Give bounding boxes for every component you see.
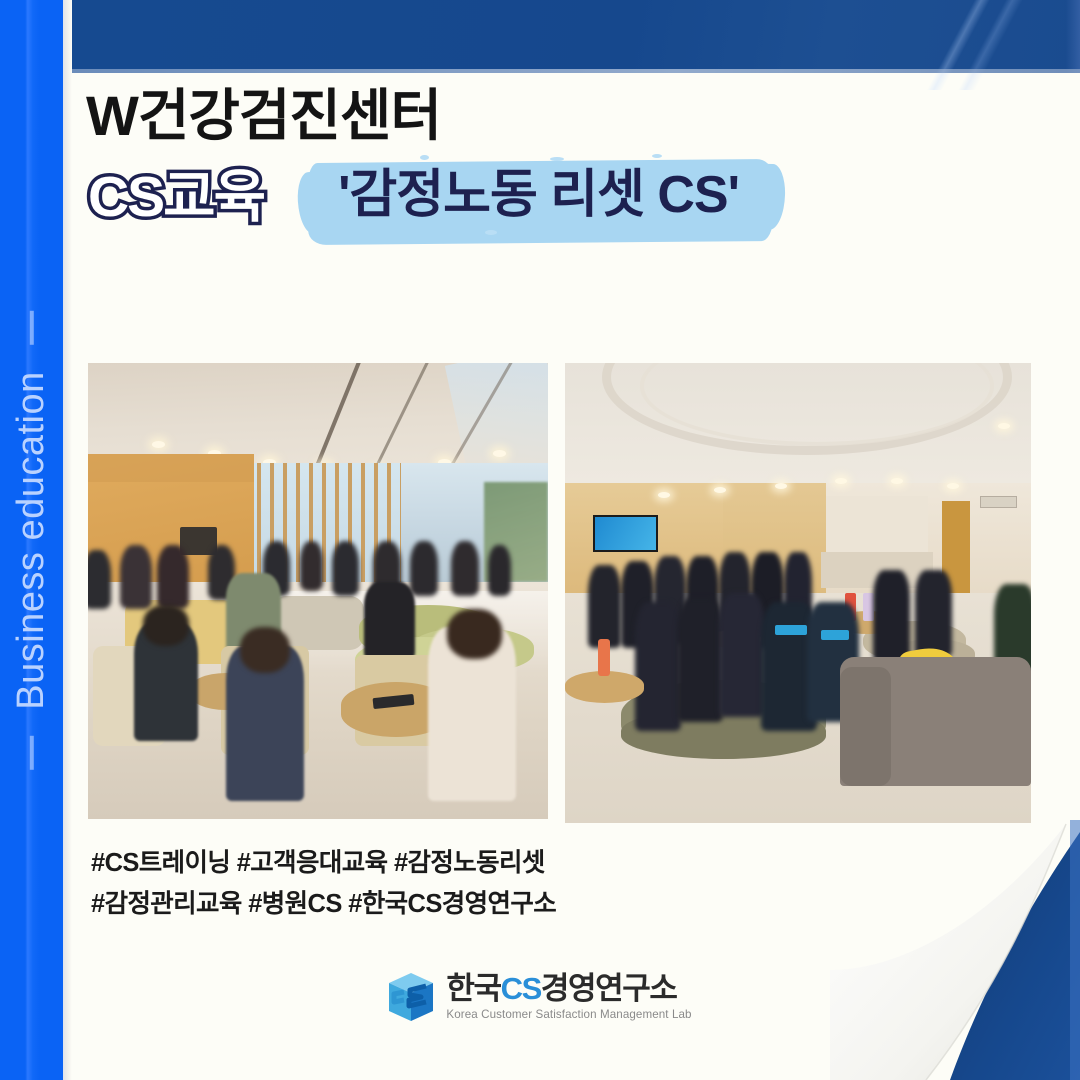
subject-badge: CS교육	[88, 169, 264, 226]
lounge-seminar-photo	[88, 363, 548, 819]
photo-grid	[88, 363, 1031, 823]
program-title: '감정노동 리셋 CS'	[338, 169, 739, 221]
brush-fleck-icon	[652, 154, 662, 158]
sidebar-rail: Business education	[0, 0, 63, 1080]
cube-logo-icon	[388, 972, 434, 1022]
top-bar-glint	[914, 0, 1034, 90]
sidebar-rail-text-group: Business education	[10, 311, 53, 770]
page-title: W건강검진센터	[86, 86, 986, 145]
logo-text-group: 한국CS경영연구소 Korea Customer Satisfaction Ma…	[446, 973, 691, 1021]
dash-icon-right	[30, 311, 34, 345]
program-title-highlight: '감정노동 리셋 CS'	[308, 157, 773, 237]
top-navy-bar	[70, 0, 1080, 73]
hospital-lobby-photo	[565, 363, 1031, 823]
dash-icon-left	[30, 735, 34, 769]
hashtag-block: #CS트레이닝 #고객응대교육 #감정노동리셋 #감정관리교육 #병원CS #한…	[91, 843, 556, 926]
rail-seam	[63, 0, 72, 1080]
page-curl-decoration	[830, 820, 1080, 1080]
logo-title: 한국CS경영연구소	[446, 973, 691, 1004]
promo-card: Business education W건강검진센터 CS교육 '감정노동 리셋…	[0, 0, 1080, 1080]
sidebar-label: Business education	[10, 371, 53, 710]
hashtag-line-1: #CS트레이닝 #고객응대교육 #감정노동리셋	[91, 843, 556, 884]
footer-logo: 한국CS경영연구소 Korea Customer Satisfaction Ma…	[0, 972, 1080, 1022]
logo-subtitle: Korea Customer Satisfaction Management L…	[446, 1009, 691, 1021]
headline-second-line: CS교육 '감정노동 리셋 CS'	[86, 151, 986, 243]
logo-cs: CS	[501, 971, 541, 1006]
top-bar-right-edge	[1066, 0, 1080, 73]
logo-suffix: 경영연구소	[541, 971, 677, 1006]
logo-prefix: 한국	[446, 971, 500, 1006]
brush-fleck-icon	[420, 155, 429, 160]
headline-block: W건강검진센터 CS교육 '감정노동 리셋 CS'	[86, 86, 986, 243]
hashtag-line-2: #감정관리교육 #병원CS #한국CS경영연구소	[91, 884, 556, 925]
